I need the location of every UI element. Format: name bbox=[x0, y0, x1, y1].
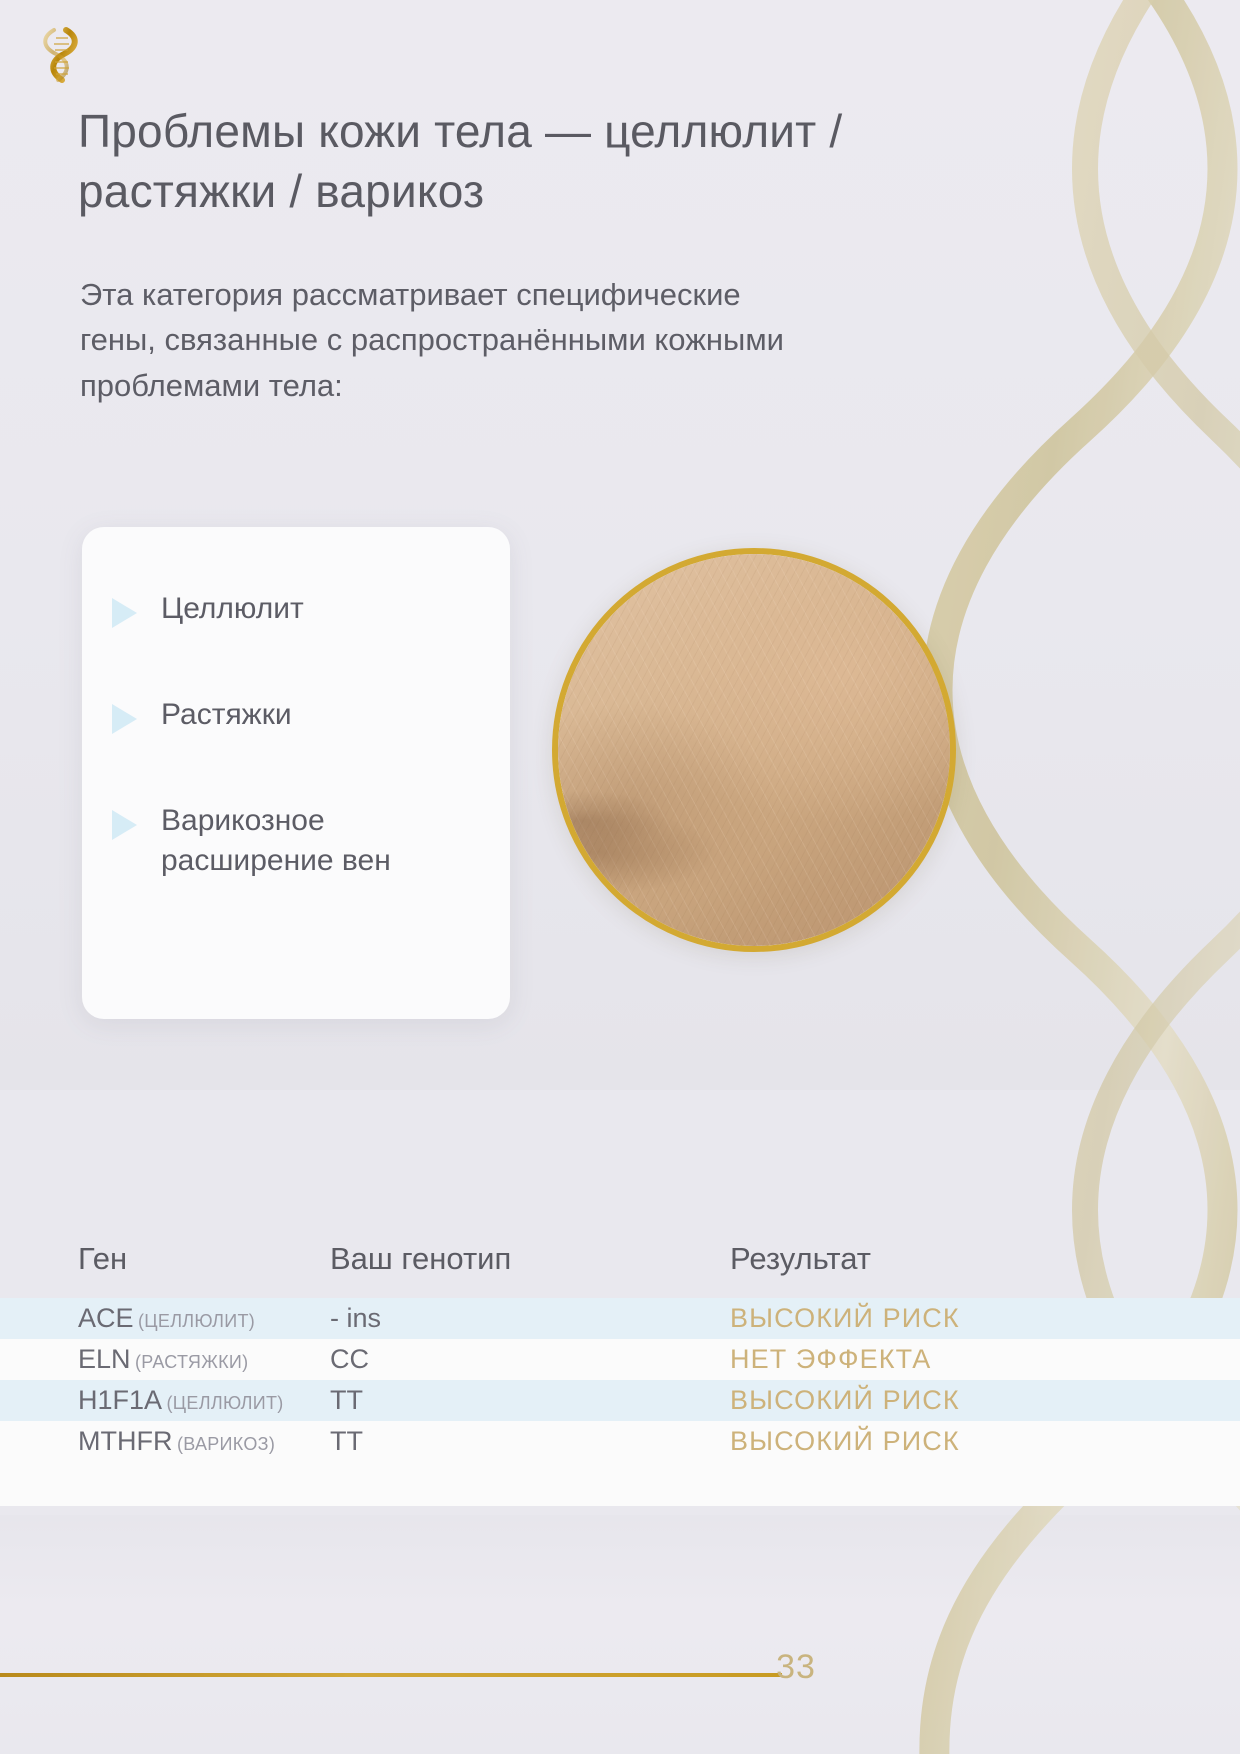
list-item-label: Целлюлит bbox=[161, 589, 304, 629]
table-row: H1F1A (ЦЕЛЛЮЛИТ) TT ВЫСОКИЙ РИСК bbox=[0, 1380, 1240, 1421]
background-wash-bottom bbox=[0, 1515, 1240, 1754]
dna-helix-logo-icon bbox=[28, 20, 94, 92]
gene-name: ACE bbox=[78, 1303, 134, 1333]
cell-result: ВЫСОКИЙ РИСК bbox=[730, 1303, 1240, 1334]
skin-photo bbox=[552, 548, 956, 952]
triangle-right-icon bbox=[112, 810, 137, 840]
gene-name: H1F1A bbox=[78, 1385, 162, 1415]
table-row: ACE (ЦЕЛЛЮЛИТ) - ins ВЫСОКИЙ РИСК bbox=[0, 1298, 1240, 1339]
triangle-right-icon bbox=[112, 598, 137, 628]
table-row: ELN (РАСТЯЖКИ) CC НЕТ ЭФФЕКТА bbox=[0, 1339, 1240, 1380]
cell-gene: H1F1A (ЦЕЛЛЮЛИТ) bbox=[0, 1385, 330, 1416]
footer-divider bbox=[0, 1673, 782, 1677]
cell-result: ВЫСОКИЙ РИСК bbox=[730, 1426, 1240, 1457]
cell-result: ВЫСОКИЙ РИСК bbox=[730, 1385, 1240, 1416]
column-header-gene: Ген bbox=[0, 1241, 330, 1277]
column-header-result: Результат bbox=[730, 1241, 1240, 1277]
gene-note: (ЦЕЛЛЮЛИТ) bbox=[167, 1393, 284, 1413]
cell-genotype: TT bbox=[330, 1426, 730, 1457]
cell-gene: ELN (РАСТЯЖКИ) bbox=[0, 1344, 330, 1375]
conditions-card: Целлюлит Растяжки Варикозное расширение … bbox=[82, 527, 510, 1019]
list-item: Варикозное расширение вен bbox=[104, 801, 480, 881]
gene-name: ELN bbox=[78, 1344, 131, 1374]
triangle-right-icon bbox=[112, 704, 137, 734]
list-item-label: Варикозное расширение вен bbox=[161, 801, 480, 881]
cell-gene: ACE (ЦЕЛЛЮЛИТ) bbox=[0, 1303, 330, 1334]
intro-paragraph: Эта категория рассматривает специфически… bbox=[80, 272, 800, 408]
cell-genotype: TT bbox=[330, 1385, 730, 1416]
gene-note: (РАСТЯЖКИ) bbox=[135, 1352, 248, 1372]
cell-genotype: CC bbox=[330, 1344, 730, 1375]
column-header-genotype: Ваш генотип bbox=[330, 1241, 730, 1277]
page-title: Проблемы кожи тела — целлюлит / растяжки… bbox=[78, 102, 958, 222]
gene-results-table: Ген Ваш генотип Результат ACE (ЦЕЛЛЮЛИТ)… bbox=[0, 1093, 1240, 1506]
list-item-label: Растяжки bbox=[161, 695, 292, 735]
table-row: MTHFR (ВАРИКОЗ) TT ВЫСОКИЙ РИСК bbox=[0, 1421, 1240, 1462]
list-item: Целлюлит bbox=[104, 589, 480, 629]
page-number: 33 bbox=[736, 1648, 856, 1687]
cell-genotype: - ins bbox=[330, 1303, 730, 1334]
gene-note: (ВАРИКОЗ) bbox=[177, 1434, 275, 1454]
table-header-row: Ген Ваш генотип Результат bbox=[0, 1220, 1240, 1298]
skin-photo-fold bbox=[558, 554, 950, 946]
list-item: Растяжки bbox=[104, 695, 480, 735]
cell-result: НЕТ ЭФФЕКТА bbox=[730, 1344, 1240, 1375]
gene-note: (ЦЕЛЛЮЛИТ) bbox=[138, 1311, 255, 1331]
cell-gene: MTHFR (ВАРИКОЗ) bbox=[0, 1426, 330, 1457]
gene-name: MTHFR bbox=[78, 1426, 172, 1456]
